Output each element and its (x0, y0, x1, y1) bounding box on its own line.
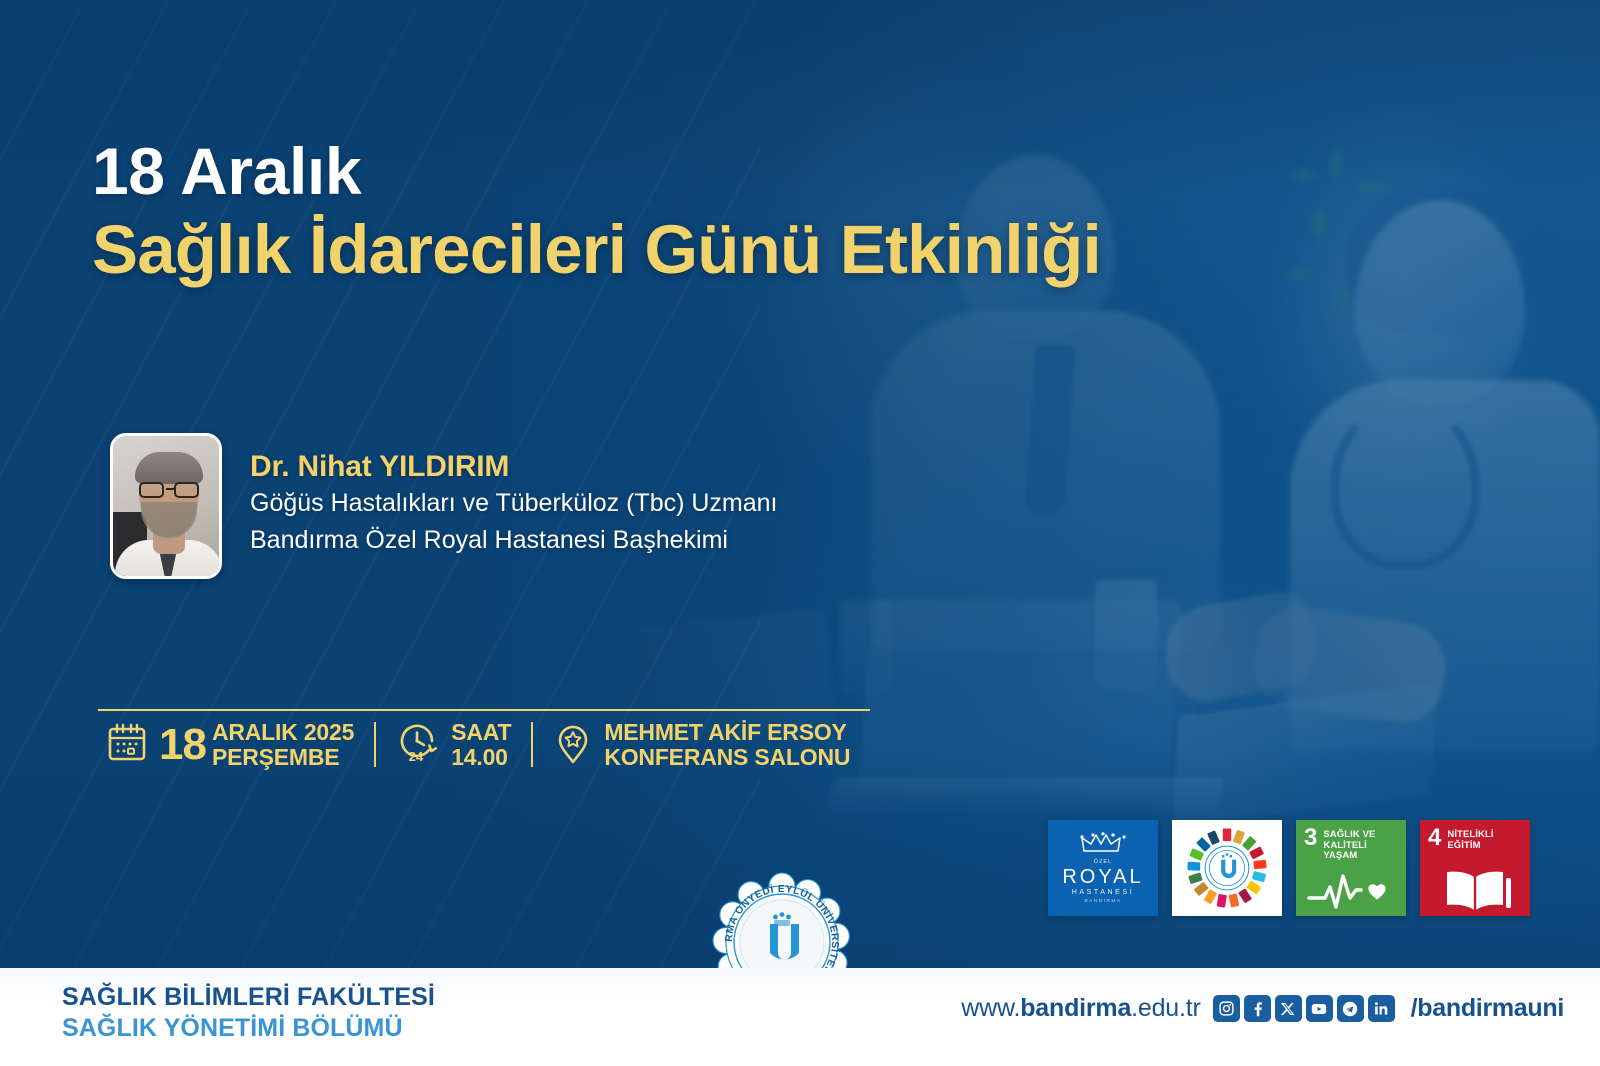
clock-icon: 24 (396, 720, 440, 769)
sdg-3-number: 3 (1304, 828, 1317, 848)
event-poster: 18 Aralık Sağlık İdarecileri Günü Etkinl… (0, 0, 1600, 1066)
facebook-icon[interactable] (1244, 995, 1271, 1022)
sdg-4-number: 4 (1428, 828, 1441, 848)
royal-city: BANDIRMA (1062, 899, 1143, 904)
footer-faculty: SAĞLIK BİLİMLERİ FAKÜLTESİ (62, 982, 435, 1013)
footer-department-block: SAĞLIK BİLİMLERİ FAKÜLTESİ SAĞLIK YÖNETİ… (62, 982, 435, 1043)
speaker-name: Dr. Nihat YILDIRIM (250, 450, 778, 483)
location-pin-icon (553, 720, 593, 769)
glasses-lens-right (174, 482, 199, 498)
speaker-details: Dr. Nihat YILDIRIM Göğüs Hastalıkları ve… (250, 433, 778, 556)
headline-line-2: Sağlık İdarecileri Günü Etkinliği (92, 211, 1272, 288)
event-weekday: PERŞEMBE (212, 745, 354, 769)
linkedin-icon[interactable] (1368, 995, 1395, 1022)
speaker-role-line-1: Göğüs Hastalıkları ve Tüberküloz (Tbc) U… (250, 487, 778, 520)
youtube-icon[interactable] (1306, 995, 1333, 1022)
poster-headline: 18 Aralık Sağlık İdarecileri Günü Etkinl… (92, 138, 1272, 289)
event-info-bar: 18 ARALIK 2025 PERŞEMBE 24 SAAT (98, 709, 870, 769)
royal-name: ROYAL (1062, 867, 1143, 887)
poster-footer: SAĞLIK BİLİMLERİ FAKÜLTESİ SAĞLIK YÖNETİ… (0, 968, 1600, 1066)
sdg-3-label: SAĞLIK VE KALİTELİ YAŞAM (1323, 828, 1399, 862)
info-date: 18 ARALIK 2025 PERŞEMBE (98, 720, 374, 769)
royal-hastanesi-logo: ÖZEL ROYAL HASTANESİ BANDIRMA (1048, 820, 1158, 916)
royal-subtitle: HASTANESİ (1062, 889, 1143, 896)
footer-department: SAĞLIK YÖNETİMİ BÖLÜMÜ (62, 1013, 435, 1044)
logo-strip: ÖZEL ROYAL HASTANESİ BANDIRMA (1048, 820, 1530, 916)
venue-line-1: MEHMET AKİF ERSOY (604, 720, 850, 744)
info-venue: MEHMET AKİF ERSOY KONFERANS SALONU (533, 720, 870, 769)
event-day-number: 18 (159, 724, 206, 766)
social-handle: /bandirmauni (1411, 994, 1564, 1023)
royal-ozel-label: ÖZEL (1062, 860, 1143, 866)
calendar-icon (106, 721, 148, 768)
sdg-3-logo: 3 SAĞLIK VE KALİTELİ YAŞAM (1296, 820, 1406, 916)
telegram-icon[interactable] (1337, 995, 1364, 1022)
url-suffix: .edu.tr (1131, 994, 1200, 1022)
clock-badge-24: 24 (409, 749, 424, 764)
headline-line-1: 18 Aralık (92, 138, 1272, 205)
glasses-lens-left (139, 482, 164, 498)
time-label: SAAT (451, 720, 511, 744)
sdg-4-logo: 4 NİTELİKLİ EĞİTİM (1420, 820, 1530, 916)
glasses-bridge (166, 488, 174, 490)
avatar-glasses-icon (137, 482, 201, 498)
url-prefix: www. (961, 994, 1020, 1022)
time-value: 14.00 (451, 745, 511, 769)
speaker-role-line-2: Bandırma Özel Royal Hastanesi Başhekimi (250, 524, 778, 557)
sdg-wheel-logo (1172, 820, 1282, 916)
instagram-icon[interactable] (1213, 995, 1240, 1022)
sdg-color-wheel-icon (1185, 826, 1269, 910)
venue-line-2: KONFERANS SALONU (604, 745, 850, 769)
x-twitter-icon[interactable] (1275, 995, 1302, 1022)
open-book-icon (1420, 864, 1530, 914)
website-url[interactable]: www.bandirma.edu.tr (961, 994, 1200, 1023)
info-time: 24 SAAT 14.00 (376, 720, 531, 769)
footer-contact-block: www.bandirma.edu.tr (961, 994, 1564, 1023)
heartbeat-icon (1296, 868, 1406, 914)
url-domain: bandirma (1020, 994, 1131, 1022)
sdg-4-label: NİTELİKLİ EĞİTİM (1447, 828, 1523, 851)
social-links (1213, 995, 1395, 1022)
crown-icon (1062, 832, 1143, 858)
event-month-year: ARALIK 2025 (212, 720, 354, 744)
speaker-avatar (110, 433, 222, 579)
avatar-hair (135, 452, 203, 484)
speaker-block: Dr. Nihat YILDIRIM Göğüs Hastalıkları ve… (110, 433, 778, 579)
